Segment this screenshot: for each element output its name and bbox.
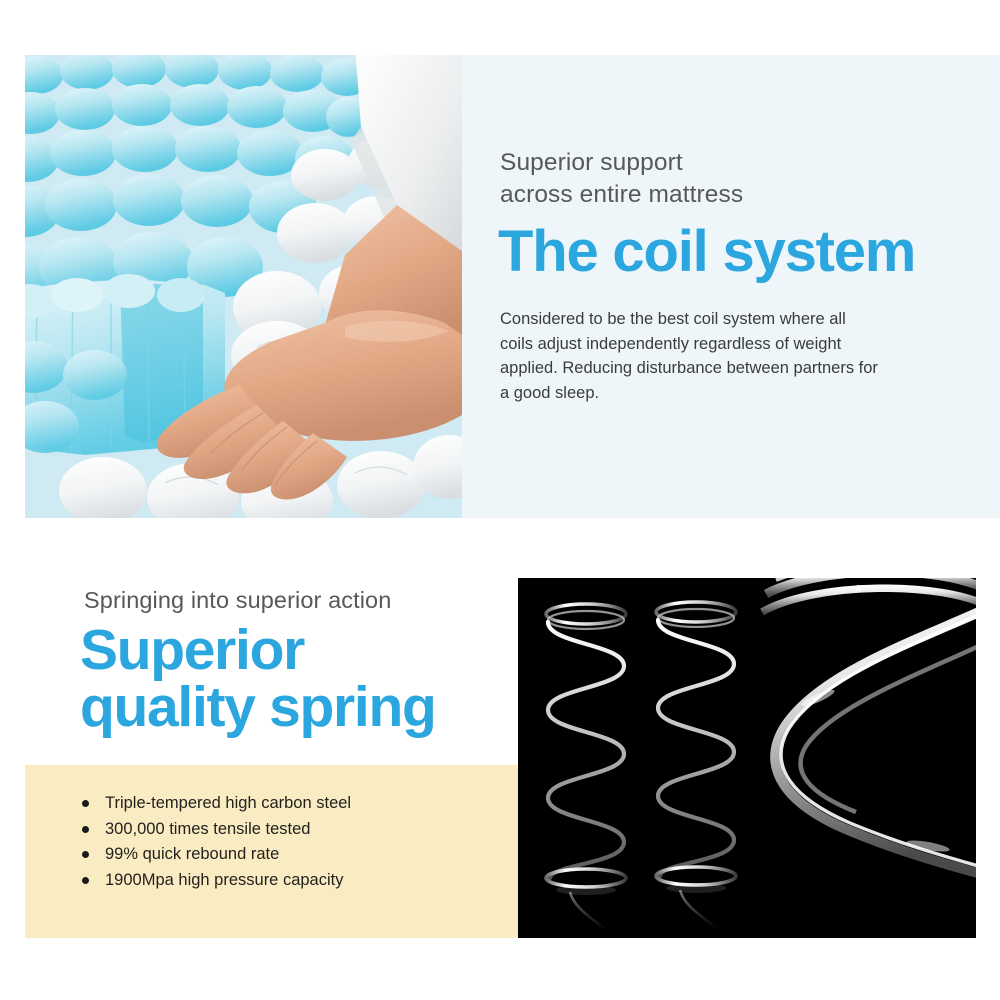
coil-system-heading: The coil system <box>498 221 915 283</box>
quality-spring-eyebrow: Springing into superior action <box>84 585 391 615</box>
list-item-label: 1900Mpa high pressure capacity <box>105 871 343 889</box>
coil-system-section: Superior support across entire mattress … <box>0 0 1000 540</box>
quality-spring-heading: Superior quality spring <box>80 622 510 736</box>
pocket-coil-mattress-photo <box>25 55 462 518</box>
list-item: 300,000 times tensile tested <box>82 817 351 843</box>
bullet-icon <box>82 851 89 858</box>
list-item: 1900Mpa high pressure capacity <box>82 868 351 894</box>
chrome-spring-photo <box>518 578 976 938</box>
coil-system-body-text: Considered to be the best coil system wh… <box>500 307 878 405</box>
list-item: 99% quick rebound rate <box>82 842 351 868</box>
coil-system-eyebrow-line1: Superior support <box>500 149 683 176</box>
bullet-icon <box>82 877 89 884</box>
quality-spring-heading-line2: quality spring <box>80 679 510 736</box>
product-infographic-page: Superior support across entire mattress … <box>0 0 1000 1000</box>
spring-features-panel: Triple-tempered high carbon steel 300,00… <box>25 765 530 938</box>
list-item-label: 99% quick rebound rate <box>105 845 279 863</box>
coil-system-text-panel: Superior support across entire mattress … <box>462 55 1000 518</box>
list-item-label: Triple-tempered high carbon steel <box>105 794 351 812</box>
bullet-icon <box>82 800 89 807</box>
spring-feature-list: Triple-tempered high carbon steel 300,00… <box>82 791 351 893</box>
quality-spring-heading-line1: Superior <box>80 618 304 682</box>
quality-spring-section: Springing into superior action Superior … <box>0 540 1000 1000</box>
coil-system-eyebrow-line2: across entire mattress <box>500 181 743 208</box>
bullet-icon <box>82 826 89 833</box>
list-item-label: 300,000 times tensile tested <box>105 820 310 838</box>
coil-system-eyebrow: Superior support across entire mattress <box>500 147 920 211</box>
list-item: Triple-tempered high carbon steel <box>82 791 351 817</box>
